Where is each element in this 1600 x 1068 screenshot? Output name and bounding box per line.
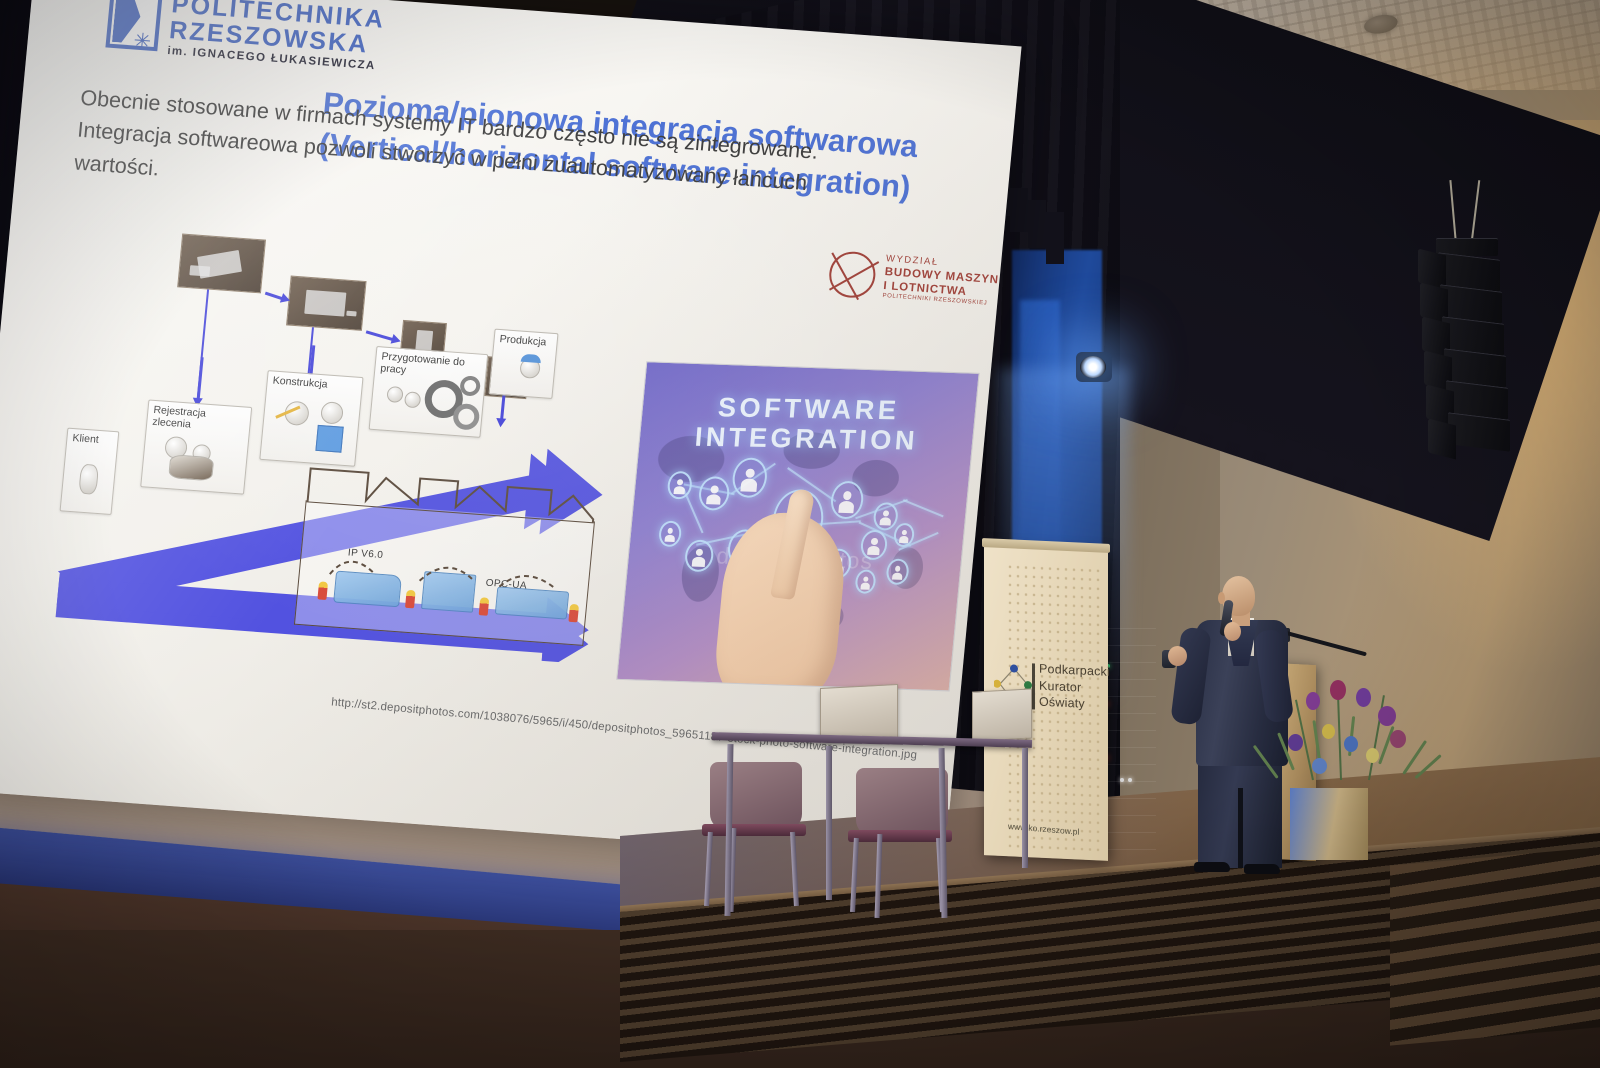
- chain-card-label: Produkcja: [499, 333, 547, 348]
- flower-bloom: [1288, 734, 1303, 751]
- speaker-hand-holding-mic: [1224, 622, 1241, 641]
- table-leg: [826, 746, 832, 900]
- curtain-step: [1028, 200, 1046, 248]
- value-chain-diagram: Klient Rejestracja zlecenia Konstrukcja: [40, 228, 639, 697]
- flower-bloom: [1356, 688, 1371, 707]
- stage-light-icon: [1080, 356, 1106, 378]
- rigging-wire: [1449, 180, 1456, 240]
- chain-arrow: [366, 330, 394, 341]
- rack-led-indicator: [1128, 778, 1132, 782]
- chain-photo-2: [286, 276, 367, 331]
- worker-figure: [568, 604, 579, 623]
- chain-card-label: Konstrukcja: [272, 375, 328, 391]
- speaker-shoe: [1194, 862, 1230, 872]
- chain-card-label: Przygotowanie do pracy: [380, 350, 465, 376]
- si-title-line-2: INTEGRATION: [639, 421, 973, 457]
- worker-figure: [317, 581, 328, 600]
- banner-line-3: Oświaty: [1039, 694, 1110, 714]
- speaker-hand-holding-clicker: [1168, 646, 1187, 666]
- factory-illustration: IP V6.0 OPC-UA: [294, 500, 595, 646]
- flower-bloom: [1378, 706, 1396, 726]
- array-cabinet-wing: [1428, 419, 1456, 460]
- conference-photo-scene: POLITECHNIKA RZESZOWSKA im. IGNACEGO ŁUK…: [0, 0, 1600, 1068]
- chain-photo-1: [177, 233, 266, 293]
- politechnika-r-mark-icon: [105, 0, 163, 51]
- flower-bloom: [1344, 736, 1358, 752]
- si-title: SOFTWARE INTEGRATION: [639, 391, 976, 457]
- flower-bloom: [1312, 758, 1327, 774]
- name-card-2: [972, 688, 1032, 741]
- name-card-text: [977, 696, 1027, 706]
- banner-text: Podkarpacki Kurator Oświaty: [1039, 661, 1110, 714]
- chain-down-arrow: [197, 357, 204, 399]
- line-array-speaker: [1404, 190, 1524, 490]
- array-cabinet: [1448, 412, 1510, 452]
- flower-arrangement: [1268, 676, 1420, 802]
- speaker-leg-gap: [1238, 788, 1243, 868]
- table-leg: [1022, 748, 1028, 868]
- worker-figure: [405, 590, 416, 609]
- banner-divider: [1032, 663, 1035, 709]
- chain-arrow: [265, 292, 283, 300]
- flower-bloom: [1322, 724, 1335, 739]
- speaker-shoe: [1244, 864, 1280, 874]
- flower-bloom: [1390, 730, 1406, 748]
- name-card-text: [825, 691, 893, 702]
- curtain-step: [1010, 188, 1028, 232]
- faculty-logo: WYDZIAŁ BUDOWY MASZYN I LOTNICTWA POLITE…: [827, 249, 1000, 309]
- flower-bloom: [1330, 680, 1346, 700]
- chain-card-produkcja: Produkcja: [488, 329, 558, 399]
- rack-led-indicator: [1120, 778, 1124, 782]
- wydzial-circle-mark-icon: [827, 250, 877, 299]
- politechnika-logo: POLITECHNIKA RZESZOWSKA im. IGNACEGO ŁUK…: [105, 0, 386, 73]
- name-card-1: [820, 684, 898, 742]
- flower-bloom: [1366, 748, 1379, 763]
- software-integration-image: SOFTWARE INTEGRATION: [616, 361, 979, 691]
- stage-steps: [1390, 846, 1600, 1045]
- flower-bloom: [1306, 692, 1320, 710]
- worker-figure: [479, 597, 490, 616]
- curtain-step: [1046, 212, 1064, 264]
